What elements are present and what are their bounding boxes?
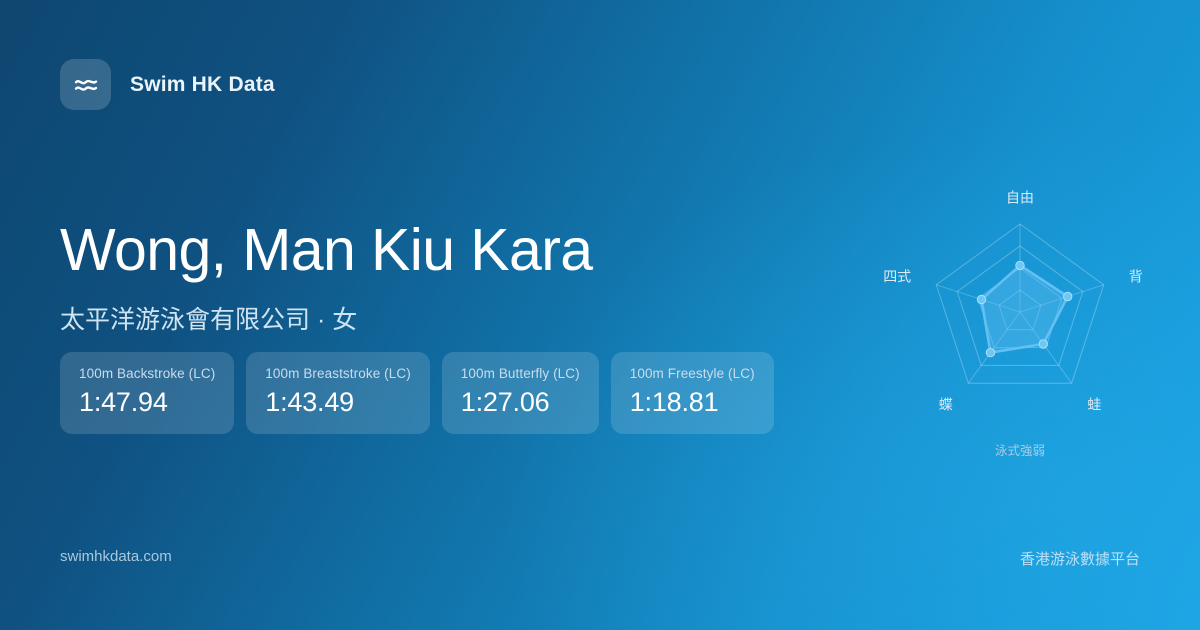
radar-point-背[interactable] xyxy=(1064,292,1072,300)
brand-header[interactable]: Swim HK Data xyxy=(60,59,275,110)
event-label: 100m Breaststroke (LC) xyxy=(265,366,411,381)
event-label: 100m Butterfly (LC) xyxy=(461,366,580,381)
radar-data-polygon xyxy=(982,265,1068,352)
radar-point-自由[interactable] xyxy=(1016,261,1024,269)
radar-axis-label-蛙: 蛙 xyxy=(1087,397,1101,413)
footer-site-url[interactable]: swimhkdata.com xyxy=(60,548,172,565)
event-card[interactable]: 100m Breaststroke (LC) 1:43.49 xyxy=(246,352,430,434)
radar-point-蛙[interactable] xyxy=(1039,340,1047,348)
hero-block: Wong, Man Kiu Kara 太平洋游泳會有限公司 · 女 xyxy=(60,219,593,336)
footer-tagline: 香港游泳數據平台 xyxy=(1020,548,1140,569)
event-card[interactable]: 100m Freestyle (LC) 1:18.81 xyxy=(611,352,774,434)
radar-point-四式[interactable] xyxy=(977,295,985,303)
radar-point-蝶[interactable] xyxy=(986,348,994,356)
wave-approx-icon xyxy=(60,59,111,110)
event-card[interactable]: 100m Backstroke (LC) 1:47.94 xyxy=(60,352,234,434)
page-title: Wong, Man Kiu Kara xyxy=(60,219,593,283)
event-card[interactable]: 100m Butterfly (LC) 1:27.06 xyxy=(442,352,599,434)
event-card-list: 100m Backstroke (LC) 1:47.94 100m Breast… xyxy=(60,352,774,434)
stroke-strength-radar-chart: 自由背蛙蝶四式 泳式強弱 xyxy=(860,160,1180,480)
radar-axis-label-背: 背 xyxy=(1129,269,1143,285)
event-time: 1:27.06 xyxy=(461,387,580,418)
radar-caption: 泳式強弱 xyxy=(995,444,1045,458)
event-time: 1:43.49 xyxy=(265,387,411,418)
brand-name: Swim HK Data xyxy=(130,73,275,97)
event-time: 1:47.94 xyxy=(79,387,215,418)
event-label: 100m Backstroke (LC) xyxy=(79,366,215,381)
athlete-club-gender: 太平洋游泳會有限公司 · 女 xyxy=(60,300,593,336)
event-label: 100m Freestyle (LC) xyxy=(630,366,755,381)
radar-axis-label-自由: 自由 xyxy=(1006,190,1034,206)
event-time: 1:18.81 xyxy=(630,387,755,418)
radar-axis-label-四式: 四式 xyxy=(883,269,911,285)
share-card: Swim HK Data Wong, Man Kiu Kara 太平洋游泳會有限… xyxy=(0,0,1200,630)
radar-axis-label-蝶: 蝶 xyxy=(939,397,953,413)
